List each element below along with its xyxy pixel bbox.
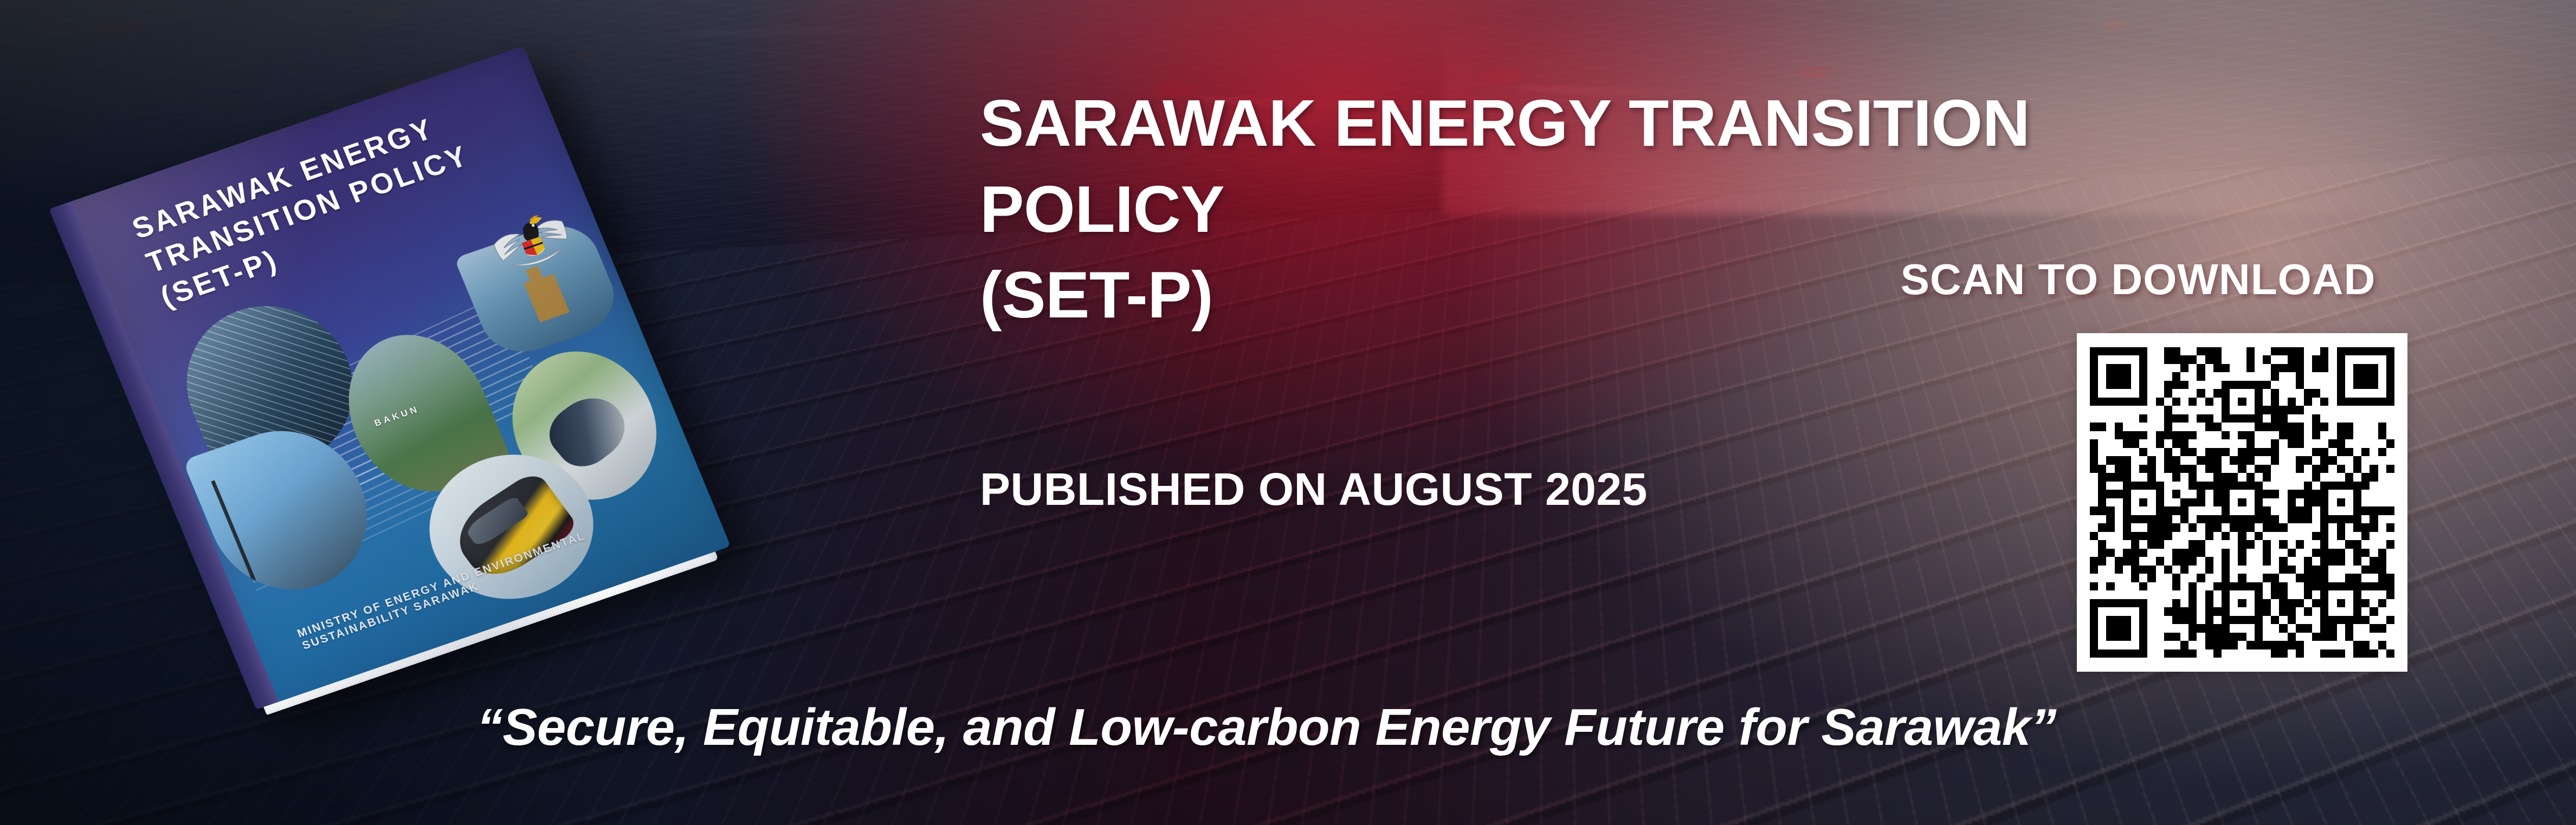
policy-tagline: “Secure, Equitable, and Low-carbon Energ…	[477, 698, 2103, 757]
cover-photo-caption: BAKUN	[373, 404, 421, 429]
qr-code-card[interactable]	[2077, 333, 2407, 672]
set-p-promotional-banner: BAKUN SARAWAK ENERGY TRANSITION POLICY (…	[0, 0, 2576, 825]
policy-book: BAKUN SARAWAK ENERGY TRANSITION POLICY (…	[72, 46, 731, 702]
publication-date-label: PUBLISHED ON AUGUST 2025	[980, 463, 1648, 516]
book-mockup: BAKUN SARAWAK ENERGY TRANSITION POLICY (…	[65, 81, 889, 720]
book-front-cover: BAKUN SARAWAK ENERGY TRANSITION POLICY (…	[72, 46, 731, 702]
headline-line-1: SARAWAK ENERGY TRANSITION POLICY	[980, 80, 2172, 252]
qr-code-icon[interactable]	[2090, 347, 2394, 658]
scan-to-download-label: SCAN TO DOWNLOAD	[1805, 255, 2471, 304]
scan-to-download-block[interactable]: SCAN TO DOWNLOAD	[1805, 255, 2471, 683]
